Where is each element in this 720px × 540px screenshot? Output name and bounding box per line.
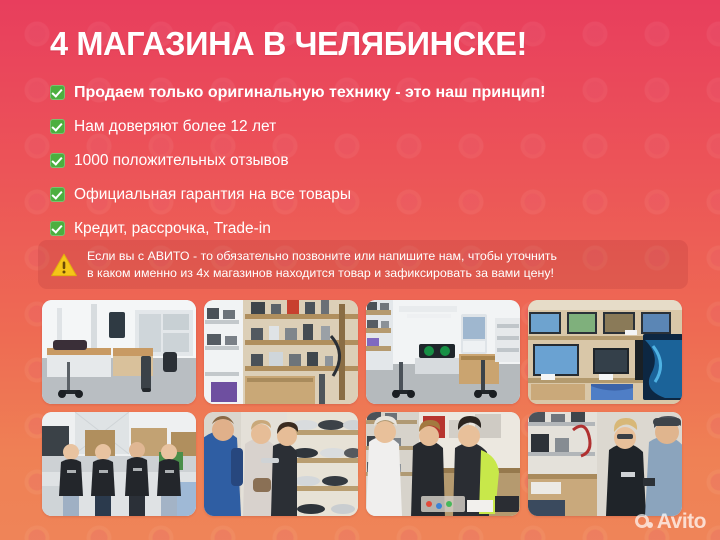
- photo-row-2: [42, 412, 682, 516]
- list-item-label: Нам доверяют более 12 лет: [74, 117, 276, 136]
- store-photo: [528, 412, 682, 516]
- store-photo: [366, 300, 520, 404]
- list-item-label: 1000 положительных отзывов: [74, 151, 289, 170]
- store-photo: [204, 300, 358, 404]
- green-check-icon: [50, 187, 65, 202]
- store-photo: [42, 300, 196, 404]
- advertisement-banner: 4 МАГАЗИНА В ЧЕЛЯБИНСКЕ! Продаем только …: [0, 0, 720, 540]
- green-check-icon: [50, 85, 65, 100]
- list-item: Официальная гарантия на все товары: [50, 178, 680, 210]
- benefits-list: Продаем только оригинальную технику - эт…: [50, 76, 680, 246]
- store-photo: [366, 412, 520, 516]
- green-check-icon: [50, 119, 65, 134]
- store-photo: [528, 300, 682, 404]
- notice-box: Если вы с АВИТО - то обязательно позвони…: [38, 240, 688, 289]
- warning-triangle-icon: [50, 252, 78, 278]
- green-check-icon: [50, 153, 65, 168]
- store-photo: [42, 412, 196, 516]
- notice-text: Если вы с АВИТО - то обязательно позвони…: [87, 248, 557, 281]
- list-item-label: Официальная гарантия на все товары: [74, 185, 351, 204]
- list-item: Нам доверяют более 12 лет: [50, 110, 680, 142]
- store-photo: [204, 412, 358, 516]
- page-title: 4 МАГАЗИНА В ЧЕЛЯБИНСКЕ!: [50, 24, 671, 64]
- list-item: Продаем только оригинальную технику - эт…: [50, 76, 680, 108]
- list-item: 1000 положительных отзывов: [50, 144, 680, 176]
- photo-row-1: [42, 300, 682, 404]
- green-check-icon: [50, 221, 65, 236]
- list-item-label: Продаем только оригинальную технику - эт…: [74, 83, 545, 102]
- store-photo-grid: [42, 300, 682, 516]
- list-item-label: Кредит, рассрочка, Trade-in: [74, 219, 271, 238]
